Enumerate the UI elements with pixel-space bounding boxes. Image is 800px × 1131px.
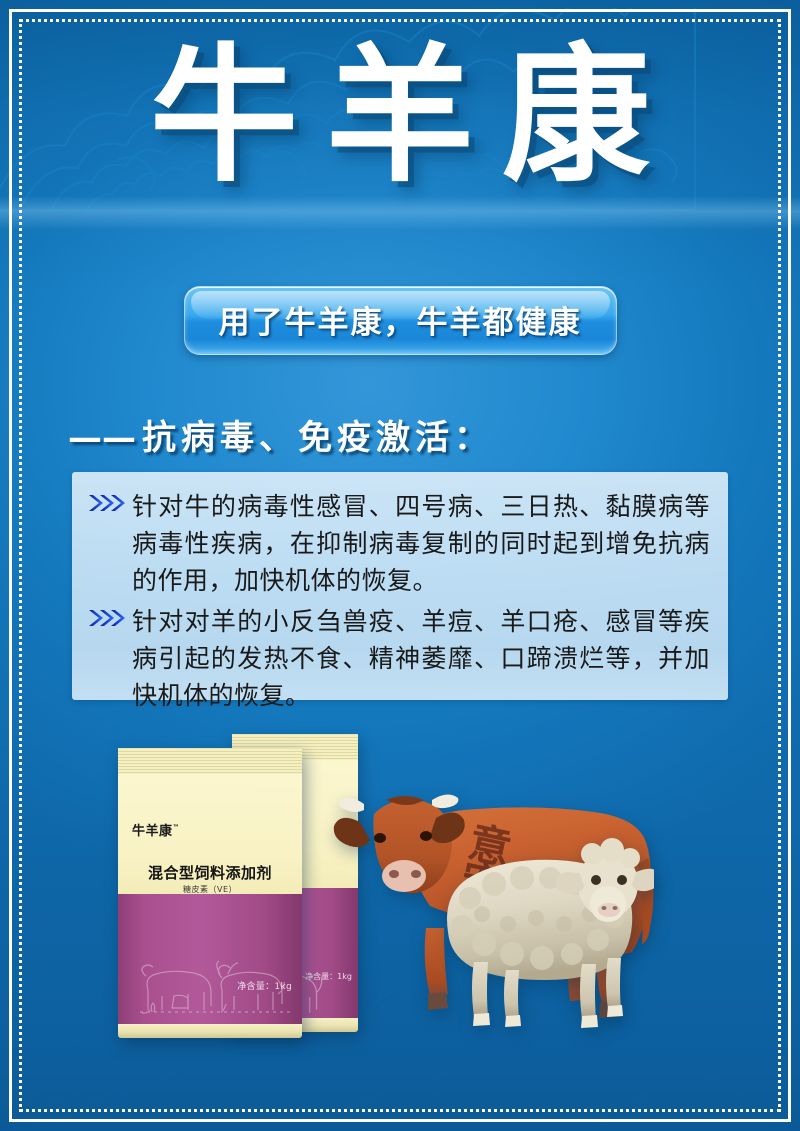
subtitle-banner-wrap: 用了牛羊康，牛羊都健康 — [0, 286, 800, 355]
poster-canvas: 牛羊康 用了牛羊康，牛羊都健康 ——抗病毒、免疫激活： — [0, 0, 800, 1131]
subtitle-banner: 用了牛羊康，牛羊都健康 — [184, 286, 617, 355]
package-front-top-face: 牛羊康™ 混合型饲料添加剂 糖皮素（VE） — [118, 774, 302, 894]
product-stage: 剂 净含量：1kg — [0, 700, 800, 1080]
white-sheep-photo — [432, 828, 654, 1028]
list-item: 针对对羊的小反刍兽疫、羊痘、羊口疮、感冒等疾病引起的发热不食、精神萎靡、口蹄溃烂… — [88, 603, 710, 714]
product-package-front: 牛羊康™ 混合型饲料添加剂 糖皮素（VE） — [118, 748, 302, 1038]
package-front-body: 净含量：1kg — [118, 894, 302, 1024]
package-brand-mark: ™ — [173, 824, 181, 832]
poster-title: 牛羊康 — [122, 42, 678, 190]
list-item-text: 针对牛的病毒性感冒、四号病、三日热、黏膜病等病毒性疾病，在抑制病毒复制的同时起到… — [132, 488, 710, 599]
package-product-name: 混合型饲料添加剂 — [118, 862, 302, 883]
section-heading: ——抗病毒、免疫激活： — [68, 410, 493, 459]
list-item-text: 针对对羊的小反刍兽疫、羊痘、羊口疮、感冒等疾病引起的发热不食、精神萎靡、口蹄溃烂… — [132, 603, 710, 714]
section-heading-text: 抗病毒、免疫激活： — [142, 418, 493, 458]
triple-chevron-right-icon — [88, 603, 132, 628]
benefits-panel: 针对牛的病毒性感冒、四号病、三日热、黏膜病等病毒性疾病，在抑制病毒复制的同时起到… — [72, 472, 728, 700]
package-brand-text: 牛羊康 — [132, 824, 173, 839]
package-brand-logo: 牛羊康™ — [132, 820, 180, 839]
section-heading-dash: —— — [68, 418, 136, 458]
poster-title-wrap: 牛羊康 — [0, 42, 800, 190]
package-front-foot — [118, 1024, 302, 1038]
triple-chevron-right-icon — [88, 488, 132, 513]
package-front-net-weight: 净含量：1kg — [237, 979, 292, 992]
subtitle-banner-text: 用了牛羊康，牛羊都健康 — [219, 297, 582, 342]
list-item: 针对牛的病毒性感冒、四号病、三日热、黏膜病等病毒性疾病，在抑制病毒复制的同时起到… — [88, 488, 710, 599]
package-front-seal — [118, 748, 302, 774]
